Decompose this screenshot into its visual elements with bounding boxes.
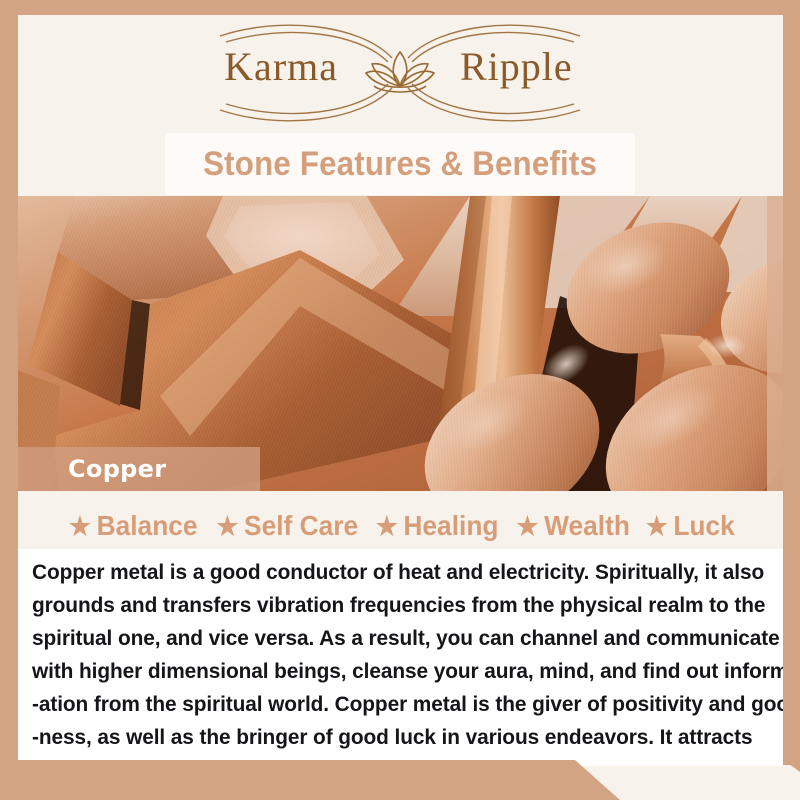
brand-name-right: Ripple <box>460 44 573 89</box>
description-line: spiritual one, and vice versa. As a resu… <box>32 622 755 655</box>
stone-name-label: Copper <box>0 455 166 483</box>
benefit-item-self-care: ★ Self Care <box>210 510 361 542</box>
benefit-item-luck: ★ Luck <box>641 510 739 542</box>
page-title: Stone Features & Benefits <box>203 145 597 184</box>
benefit-item-balance: ★ Balance <box>63 510 201 542</box>
brand-logo: Karma Ripple <box>0 15 800 130</box>
benefit-label: Balance <box>97 510 198 542</box>
product-info-card: Karma Ripple Stone Features & Benefits <box>0 0 800 800</box>
description-panel: Copper metal is a good conductor of heat… <box>18 549 783 766</box>
frame-left-border <box>0 15 18 800</box>
benefit-label: Luck <box>674 510 735 542</box>
benefit-item-healing: ★ Healing <box>371 510 503 542</box>
description-line: -ation from the spiritual world. Copper … <box>32 688 755 721</box>
star-icon: ★ <box>69 513 91 539</box>
section-title-band: Stone Features & Benefits <box>165 133 635 195</box>
description-line: Copper metal is a good conductor of heat… <box>32 556 755 589</box>
frame-top-border <box>0 0 800 15</box>
star-icon: ★ <box>216 513 238 539</box>
frame-bottom-border <box>0 760 620 800</box>
star-icon: ★ <box>516 513 538 539</box>
benefit-label: Healing <box>404 510 499 542</box>
star-icon: ★ <box>646 513 668 539</box>
benefit-label: Self Care <box>244 510 358 542</box>
frame-right-corner-tip <box>783 744 800 772</box>
benefits-list: ★ Balance ★ Self Care ★ Healing ★ Wealth… <box>18 503 783 549</box>
description-line: -ness, as well as the bringer of good lu… <box>32 721 755 754</box>
star-icon: ★ <box>376 513 398 539</box>
description-line: grounds and transfers vibration frequenc… <box>32 589 755 622</box>
photo-caption-band: Copper <box>0 447 260 491</box>
benefit-label: Wealth <box>544 510 630 542</box>
description-line: with higher dimensional beings, cleanse … <box>32 655 755 688</box>
frame-right-border <box>783 0 800 765</box>
description-text: Copper metal is a good conductor of heat… <box>32 556 777 787</box>
brand-name-left: Karma <box>224 44 338 89</box>
benefit-item-wealth: ★ Wealth <box>511 510 634 542</box>
lotus-icon <box>366 52 434 92</box>
